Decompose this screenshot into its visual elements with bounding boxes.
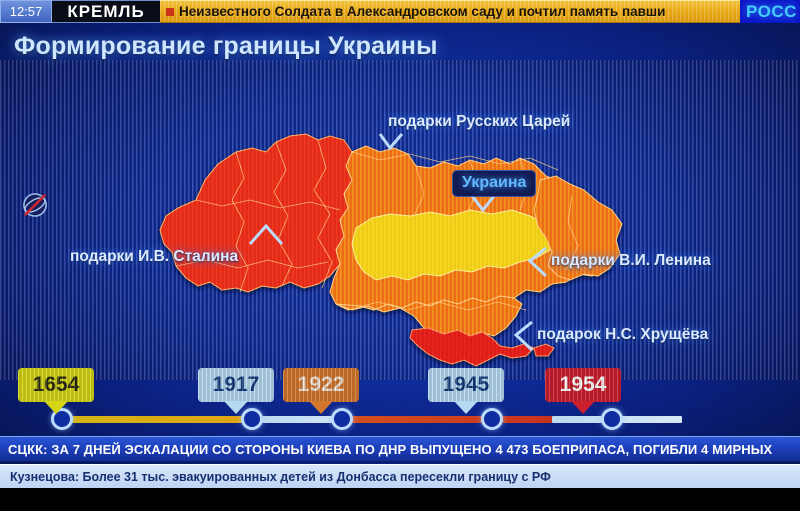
timeline-marker-tail: [44, 401, 68, 414]
timeline-marker-1945[interactable]: 1945: [428, 368, 504, 412]
pointer-tsars-icon: [376, 132, 416, 154]
clock: 12:57: [0, 0, 52, 23]
timeline-marker-1954[interactable]: 1954: [545, 368, 621, 412]
network-logo: РОСС: [740, 0, 800, 23]
broadcast-screen: 12:57 КРЕМЛЬ Неизвестного Солдата в Алек…: [0, 0, 800, 511]
ticker-text: Неизвестного Солдата в Александровском с…: [179, 4, 665, 19]
timeline-marker-year: 1654: [18, 368, 94, 402]
top-bar: 12:57 КРЕМЛЬ Неизвестного Солдата в Алек…: [0, 0, 800, 23]
timeline-marker-tail: [454, 401, 478, 414]
page-title: Формирование границы Украины: [14, 32, 438, 61]
pointer-khrushchev-icon: [512, 320, 538, 354]
news-crawl-secondary-text: Кузнецова: Более 31 тыс. эвакуированных …: [0, 470, 551, 484]
channel-tag: КРЕМЛЬ: [52, 0, 160, 23]
timeline-marker-year: 1917: [198, 368, 274, 402]
callout-stalin-gifts: подарки И.В. Сталина: [70, 248, 238, 266]
callout-khrushchev-gift: подарок Н.С. Хрущёва: [537, 326, 708, 344]
news-crawl-secondary: Кузнецова: Более 31 тыс. эвакуированных …: [0, 464, 800, 488]
timeline-segment: [252, 416, 342, 423]
callout-lenin-gifts: подарки В.И. Ленина: [551, 252, 711, 270]
letterbox-bar: [0, 488, 800, 511]
ticker-bullet-icon: [166, 8, 174, 16]
callout-tsars-gifts: подарки Русских Царей: [388, 113, 570, 131]
timeline-marker-tail: [309, 401, 333, 414]
timeline-segment: [62, 416, 252, 423]
pointer-stalin-icon: [246, 224, 290, 248]
timeline-marker-year: 1945: [428, 368, 504, 402]
badge-ukraine: Украина: [452, 170, 536, 197]
news-crawl-primary-text: СЦКК: ЗА 7 ДНЕЙ ЭСКАЛАЦИИ СО СТОРОНЫ КИЕ…: [0, 442, 772, 457]
timeline-marker-1922[interactable]: 1922: [283, 368, 359, 412]
timeline-marker-1917[interactable]: 1917: [198, 368, 274, 412]
news-crawl-primary: СЦКК: ЗА 7 ДНЕЙ ЭСКАЛАЦИИ СО СТОРОНЫ КИЕ…: [0, 436, 800, 462]
timeline-marker-year: 1954: [545, 368, 621, 402]
timeline-marker-tail: [224, 401, 248, 414]
timeline-marker-year: 1922: [283, 368, 359, 402]
timeline-track: [62, 416, 800, 423]
timeline-segment: [342, 416, 552, 423]
pointer-lenin-icon: [526, 246, 552, 280]
timeline: 16541917192219451954: [0, 368, 800, 434]
timeline-marker-tail: [571, 401, 595, 414]
timeline-marker-1654[interactable]: 1654: [18, 368, 94, 412]
muted-audio-icon: [18, 188, 52, 222]
headline-ticker: Неизвестного Солдата в Александровском с…: [160, 0, 740, 23]
pointer-ukraine-icon: [470, 196, 504, 216]
